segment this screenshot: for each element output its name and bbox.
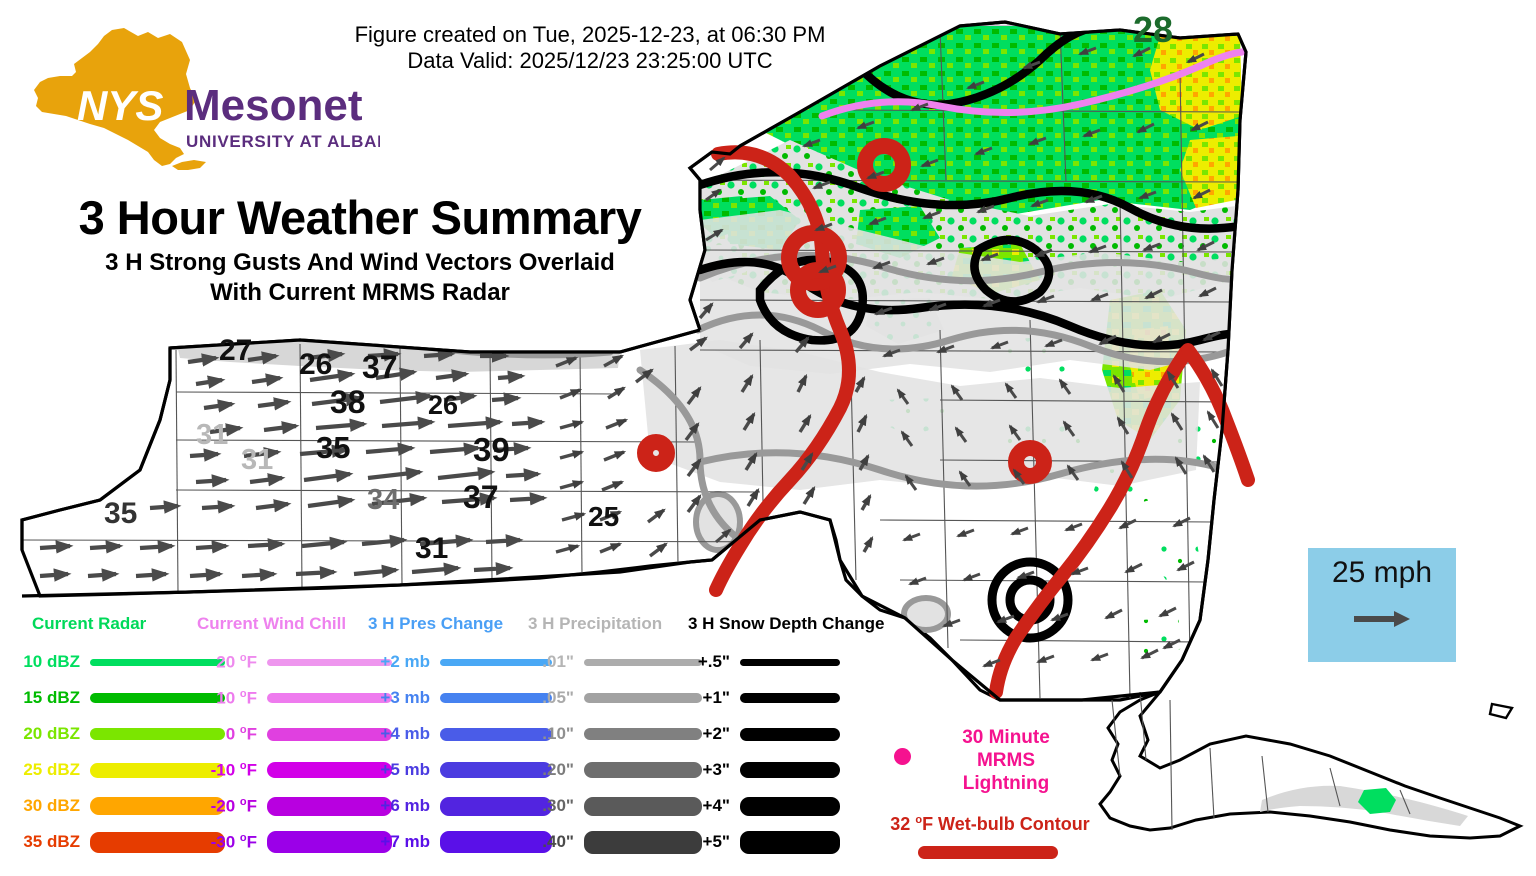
legend-row: +1": [680, 680, 840, 716]
wetbulb-legend-bar: [918, 846, 1058, 859]
legend-item-label: +5": [680, 832, 730, 852]
downstate-region: [1100, 692, 1520, 838]
legend-item-label: 30 dBZ: [0, 796, 80, 816]
page-subtitle: 3 H Strong Gusts And Wind Vectors Overla…: [20, 248, 700, 308]
gust-value-label: 26: [428, 392, 458, 419]
wind-scale-box: 25 mph: [1308, 548, 1456, 662]
lightning-legend-text: 30 Minute MRMS Lightning: [916, 726, 1096, 795]
legend-item-label: .20": [520, 760, 574, 780]
valid-line: Data Valid: 2025/12/23 23:25:00 UTC: [330, 48, 850, 74]
legend-item-label: 10 oF: [185, 688, 257, 709]
subtitle-line-1: 3 H Strong Gusts And Wind Vectors Overla…: [20, 248, 700, 278]
legend-item-label: 0 oF: [185, 724, 257, 745]
legend-row: .01": [520, 644, 702, 680]
legend-column-current-radar: Current Radar10 dBZ15 dBZ20 dBZ25 dBZ30 …: [0, 614, 146, 634]
legend-item-label: -30 oF: [185, 832, 257, 853]
legend-item-label: .40": [520, 832, 574, 852]
legend-row: .30": [520, 788, 702, 824]
gust-value-label: 26: [299, 350, 332, 380]
legend-item-label: -10 oF: [185, 760, 257, 781]
legend-header-pres-change: 3 H Pres Change: [360, 614, 503, 634]
legend-row: +2": [680, 716, 840, 752]
gust-value-label: 39: [473, 433, 510, 466]
gust-value-label: 31: [415, 534, 448, 564]
legend-item-label: +6 mb: [360, 796, 430, 816]
legend-column-snow-depth-change: 3 H Snow Depth Change+.5"+1"+2"+3"+4"+5": [680, 614, 884, 634]
legend-item-label: .30": [520, 796, 574, 816]
gust-value-label: 31: [241, 446, 273, 475]
svg-text:UNIVERSITY AT ALBANY: UNIVERSITY AT ALBANY: [186, 132, 380, 151]
legend-column-precipitation: 3 H Precipitation.01".05".10".20".30".40…: [520, 614, 662, 634]
legend-column-pres-change: 3 H Pres Change+2 mb+3 mb+4 mb+5 mb+6 mb…: [360, 614, 503, 634]
legend-item-label: 15 dBZ: [0, 688, 80, 708]
legend-item-label: .10": [520, 724, 574, 744]
legend-header-snow-depth-change: 3 H Snow Depth Change: [680, 614, 884, 634]
legend-item-swatch: [740, 728, 840, 741]
legend-item-label: 10 dBZ: [0, 652, 80, 672]
legend-row: .05": [520, 680, 702, 716]
legend-row: +4": [680, 788, 840, 824]
gust-value-label: 31: [196, 421, 228, 450]
gust-value-label: 35: [104, 499, 137, 529]
legend-item-swatch: [740, 831, 840, 854]
legend-item-label: +2 mb: [360, 652, 430, 672]
legend-item-label: .05": [520, 688, 574, 708]
gust-value-label: 28: [1133, 12, 1173, 48]
legend-item-label: 25 dBZ: [0, 760, 80, 780]
legend-item-label: 20 oF: [185, 652, 257, 673]
gust-value-label: 25: [588, 503, 619, 531]
gust-value-label: 37: [362, 351, 398, 383]
legend-item-label: 35 dBZ: [0, 832, 80, 852]
legend-item-label: +2": [680, 724, 730, 744]
wind-scale-label: 25 mph: [1308, 556, 1456, 590]
gust-value-label: 34: [367, 486, 399, 515]
lightning-line-3: Lightning: [916, 772, 1096, 795]
gust-value-label: 38: [330, 386, 366, 418]
legend-item-label: +7 mb: [360, 832, 430, 852]
legend-row: .20": [520, 752, 702, 788]
legend-row: +5": [680, 824, 840, 860]
legend-item-label: +4 mb: [360, 724, 430, 744]
legend-item-label: .01": [520, 652, 574, 672]
legend-item-label: +3": [680, 760, 730, 780]
legend-header-precipitation: 3 H Precipitation: [520, 614, 662, 634]
gust-value-label: 27: [219, 336, 252, 366]
title-block: 3 Hour Weather Summary 3 H Strong Gusts …: [20, 192, 700, 308]
legend-item-swatch: [740, 762, 840, 778]
legend-row: .40": [520, 824, 702, 860]
page-title: 3 Hour Weather Summary: [20, 192, 700, 244]
legend-column-current-wind-chill: Current Wind Chill20 oF10 oF0 oF-10 oF-2…: [185, 614, 346, 634]
lightning-dot-icon: [894, 748, 911, 765]
legend-item-swatch: [740, 797, 840, 816]
created-line: Figure created on Tue, 2025-12-23, at 06…: [330, 22, 850, 48]
legend-row: +3": [680, 752, 840, 788]
gust-value-label: 35: [316, 432, 350, 463]
svg-text:NYS: NYS: [77, 82, 163, 129]
arrow-right-icon: [1352, 608, 1412, 630]
svg-text:Mesonet: Mesonet: [184, 81, 363, 130]
legend-header-current-radar: Current Radar: [0, 614, 146, 634]
subtitle-line-2: With Current MRMS Radar: [20, 278, 700, 308]
legend-item-label: 20 dBZ: [0, 724, 80, 744]
legend-item-label: +5 mb: [360, 760, 430, 780]
legend-row: .10": [520, 716, 702, 752]
legend-item-label: -20 oF: [185, 796, 257, 817]
legend-row: +.5": [680, 644, 840, 680]
gust-value-label: 37: [463, 481, 499, 513]
lightning-line-2: MRMS: [916, 749, 1096, 772]
legend-item-label: +4": [680, 796, 730, 816]
nys-mesonet-logo: NYS Mesonet UNIVERSITY AT ALBANY: [20, 14, 380, 174]
legend-header-current-wind-chill: Current Wind Chill: [185, 614, 346, 634]
figure-timestamp: Figure created on Tue, 2025-12-23, at 06…: [330, 22, 850, 74]
legend-item-label: +.5": [680, 652, 730, 672]
legend-item-swatch: [740, 693, 840, 703]
lightning-line-1: 30 Minute: [916, 726, 1096, 749]
legend-item-label: +3 mb: [360, 688, 430, 708]
wetbulb-legend-text: 32 oF Wet-bulb Contour: [880, 814, 1100, 835]
legend-item-swatch: [740, 659, 840, 666]
legend-item-label: +1": [680, 688, 730, 708]
